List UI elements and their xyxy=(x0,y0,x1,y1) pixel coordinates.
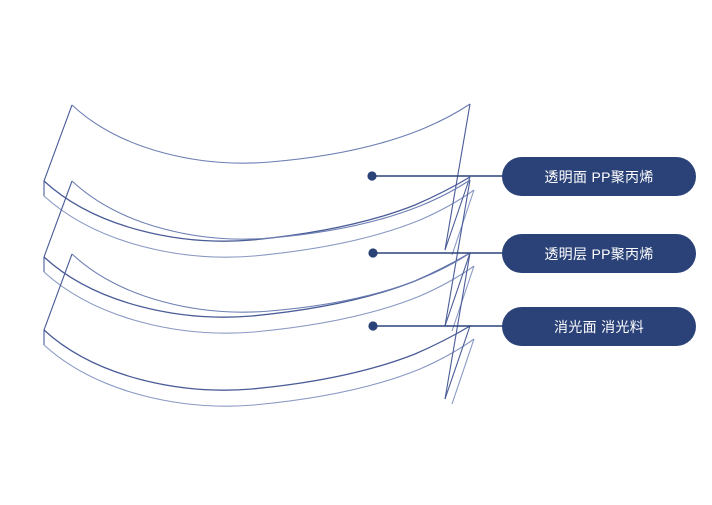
layer-label-text-0: 透明面 PP聚丙烯 xyxy=(544,167,653,187)
layer-label-text-2: 消光面 消光料 xyxy=(554,317,644,337)
layer-label-pill-1[interactable]: 透明层 PP聚丙烯 xyxy=(502,234,696,273)
diagram-canvas: 透明面 PP聚丙烯 透明层 PP聚丙烯 消光面 消光料 xyxy=(0,0,712,505)
layer-label-text-1: 透明层 PP聚丙烯 xyxy=(544,244,653,264)
callout-connector-1 xyxy=(368,248,507,257)
layer-label-pill-0[interactable]: 透明面 PP聚丙烯 xyxy=(502,157,696,196)
callout-connector-0 xyxy=(367,171,507,180)
sheet-layer-0 xyxy=(44,104,474,257)
layer-label-pill-2[interactable]: 消光面 消光料 xyxy=(502,307,696,346)
callout-connector-2 xyxy=(368,321,507,330)
sheet-layer-2 xyxy=(44,253,474,406)
sheet-layer-1 xyxy=(44,180,474,333)
